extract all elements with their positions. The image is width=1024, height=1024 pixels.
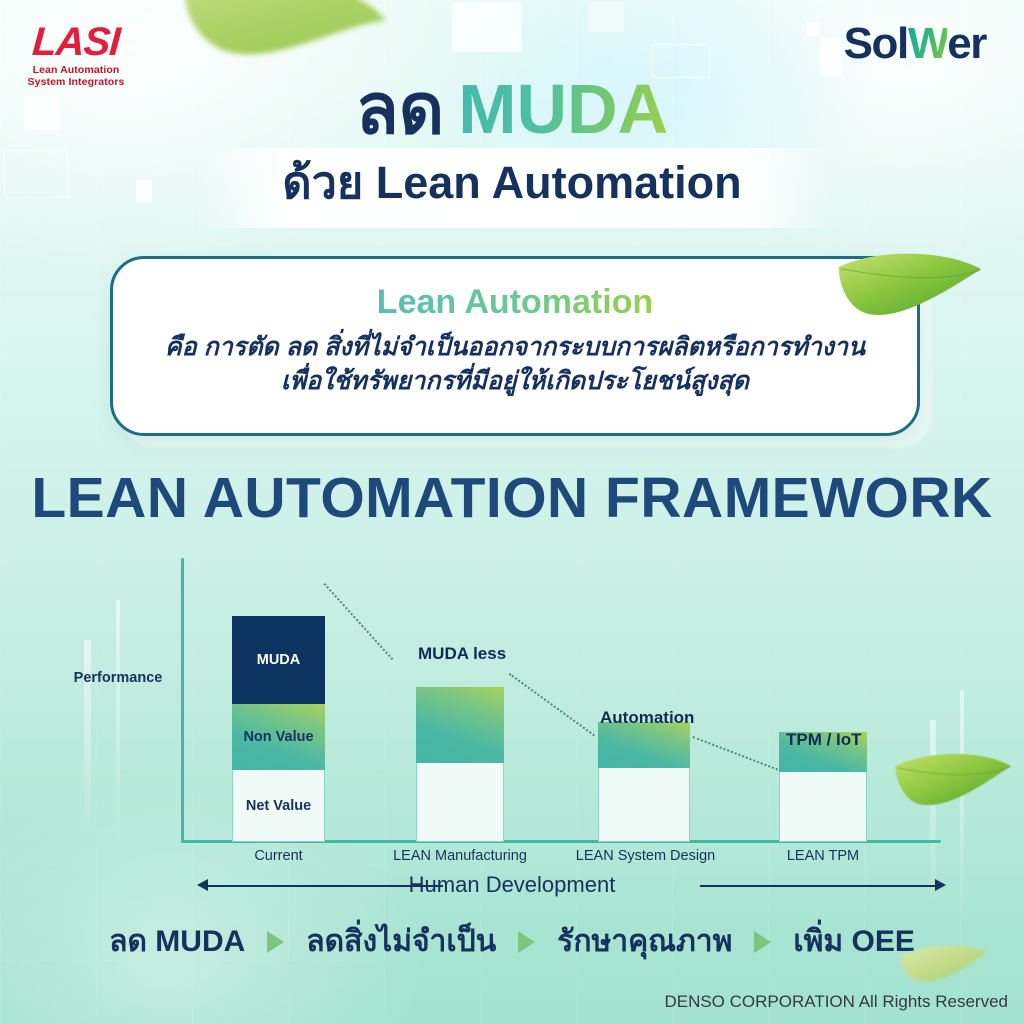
- definition-card-body: คือ การตัด ลด สิ่งที่ไม่จำเป็นออกจากระบบ…: [131, 331, 899, 399]
- definition-card-title: Lean Automation: [113, 285, 917, 319]
- footer-copyright: DENSO CORPORATION All Rights Reserved: [664, 992, 1008, 1012]
- human-development-line-right: [700, 885, 938, 887]
- chart-segment-net-value: [598, 768, 690, 842]
- chevron-right-icon: [754, 931, 771, 953]
- solwer-logo-text-left: Sol: [844, 19, 908, 68]
- step-item-4: เพิ่ม OEE: [793, 927, 915, 957]
- framework-chart: Performance MUDA Non Value Net Value Cur…: [0, 548, 1024, 908]
- chart-category-label-lean-manufacturing: LEAN Manufacturing: [381, 848, 539, 864]
- chevron-right-icon: [518, 931, 535, 953]
- definition-card-line2: เพื่อใช้ทรัพยากรที่มีอยู่ให้เกิดประโยชน์…: [131, 365, 899, 399]
- chart-segment-muda: MUDA: [232, 616, 325, 704]
- page-title: ลดMUDA: [0, 74, 1024, 144]
- chart-segment-net-value: [779, 772, 867, 842]
- trend-connector-2: [509, 673, 595, 736]
- chart-segment-non-value: [416, 687, 504, 763]
- chart-bar-current: MUDA Non Value Net Value: [232, 616, 325, 842]
- chart-category-label-current: Current: [232, 848, 325, 864]
- solwer-logo-w-glyph: W: [908, 19, 947, 68]
- page-subtitle: ด้วย Lean Automation: [0, 156, 1024, 210]
- human-development-axis: Human Development: [0, 866, 1024, 906]
- chart-callout-automation: Automation: [600, 708, 694, 728]
- chart-segment-net-value-label: Net Value: [246, 798, 311, 814]
- solwer-logo: SolWer: [844, 22, 986, 66]
- chart-callout-tpm-iot: TPM / IoT: [786, 730, 862, 750]
- arrow-right-icon: [935, 879, 946, 891]
- definition-card-title-text: Lean Automation: [377, 283, 653, 321]
- step-item-2: ลดสิ่งไม่จำเป็น: [306, 927, 496, 957]
- chart-segment-non-value: [598, 722, 690, 768]
- page-title-thai: ลด: [356, 70, 444, 148]
- chart-y-axis-label: Performance: [58, 670, 178, 686]
- chart-callout-muda-less: MUDA less: [418, 644, 506, 664]
- chart-segment-non-value-label: Non Value: [243, 729, 313, 745]
- steps-row: ลด MUDA ลดสิ่งไม่จำเป็น รักษาคุณภาพ เพิ่…: [0, 918, 1024, 966]
- page-title-muda: MUDA: [458, 70, 668, 148]
- step-item-1: ลด MUDA: [109, 927, 245, 957]
- background-square: [452, 2, 522, 52]
- chart-segment-net-value: Net Value: [232, 770, 325, 842]
- background-square: [820, 38, 842, 76]
- background-square: [588, 2, 624, 32]
- chevron-right-icon: [267, 931, 284, 953]
- chart-category-label-lean-tpm: LEAN TPM: [760, 848, 886, 864]
- trend-connector-1: [324, 583, 394, 660]
- chart-y-axis: [181, 558, 184, 842]
- chart-category-label-lean-system-design: LEAN System Design: [568, 848, 723, 864]
- chart-segment-muda-label: MUDA: [257, 652, 301, 668]
- poster-canvas: LASI Lean Automation System Integrators …: [0, 0, 1024, 1024]
- chart-segment-net-value: [416, 763, 504, 842]
- chart-bar-lean-manufacturing: [416, 687, 504, 842]
- chart-bar-lean-system-design: [598, 722, 690, 842]
- chart-segment-non-value: Non Value: [232, 704, 325, 770]
- background-square: [806, 22, 820, 36]
- lasi-logo-mark: LASI: [15, 22, 138, 62]
- step-item-3: รักษาคุณภาพ: [557, 927, 732, 957]
- trend-connector-3: [692, 736, 781, 772]
- definition-card-line1: คือ การตัด ลด สิ่งที่ไม่จำเป็นออกจากระบบ…: [131, 331, 899, 365]
- definition-card: Lean Automation คือ การตัด ลด สิ่งที่ไม่…: [110, 256, 920, 436]
- framework-heading: LEAN AUTOMATION FRAMEWORK: [0, 470, 1024, 527]
- solwer-logo-text-right: er: [947, 19, 986, 68]
